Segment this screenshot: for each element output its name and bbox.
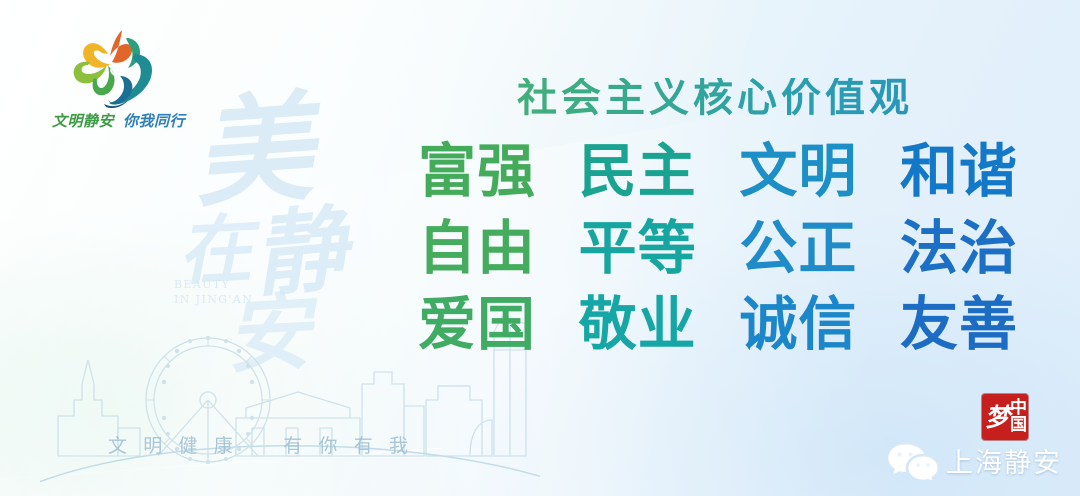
wechat-account-name: 上海静安	[946, 441, 1062, 480]
jingan-civility-logo: 文明静安 你我同行	[52, 26, 202, 131]
values-row-3: 爱国 敬业 诚信 友善	[418, 293, 1018, 356]
value-word-ziyou: 自由	[418, 217, 536, 280]
logo-slogan-part-a: 文明静安	[52, 110, 114, 131]
wechat-account-watermark: 上海静安	[886, 440, 1062, 480]
arc-slogan-char-2: 明	[143, 431, 162, 458]
arc-slogan-char-1: 文	[108, 431, 127, 458]
arc-slogan-char-6: 你	[318, 431, 337, 458]
value-word-youshan: 友善	[900, 293, 1018, 356]
arc-slogan-char-5: 有	[283, 431, 302, 458]
arc-slogan-char-4: 康	[214, 431, 233, 458]
value-word-aiguo: 爱国	[418, 293, 536, 356]
stamp-chars-zhongguo: 中 国	[1010, 397, 1027, 437]
value-word-chengxin: 诚信	[739, 293, 857, 356]
logo-slogan-part-b: 你我同行	[123, 110, 185, 131]
value-word-wenming: 文明	[739, 140, 857, 203]
stamp-char-meng: 梦	[985, 397, 1010, 437]
core-values-rows: 富强 民主 文明 和谐 自由 平等 公正 法治 爱国 敬业 诚信 友善	[418, 140, 1018, 356]
value-word-fazhi: 法治	[900, 217, 1018, 280]
core-values-block: 社会主义核心价值观 富强 民主 文明 和谐 自由 平等 公正 法治 爱国 敬业 …	[418, 78, 1018, 356]
jingan-swirl-logo-icon	[64, 26, 174, 108]
logo-slogan: 文明静安 你我同行	[52, 110, 202, 131]
value-word-jingye: 敬业	[579, 293, 697, 356]
core-values-poster: 美 在 静 安 BEAUTY IN JING'AN	[0, 0, 1080, 496]
value-word-minzhu: 民主	[579, 140, 697, 203]
value-word-pingdeng: 平等	[579, 217, 697, 280]
values-row-1: 富强 民主 文明 和谐	[418, 140, 1018, 203]
arc-slogan-spacer	[249, 431, 267, 458]
stamp-char-guo: 国	[1010, 417, 1027, 434]
civility-health-slogan: 文 明 健 康 有 你 有 我	[108, 431, 408, 458]
arc-slogan-char-3: 健	[179, 431, 198, 458]
poster-headline: 社会主义核心价值观	[418, 78, 1018, 118]
arc-slogan-char-8: 我	[389, 431, 408, 458]
values-row-2: 自由 平等 公正 法治	[418, 217, 1018, 280]
value-word-fuqiang: 富强	[418, 140, 536, 203]
value-word-gongzheng: 公正	[739, 217, 857, 280]
value-word-hexie: 和谐	[900, 140, 1018, 203]
wechat-icon	[886, 440, 938, 480]
arc-slogan-char-7: 有	[354, 431, 373, 458]
dream-china-stamp: 梦 中 国	[982, 394, 1028, 440]
